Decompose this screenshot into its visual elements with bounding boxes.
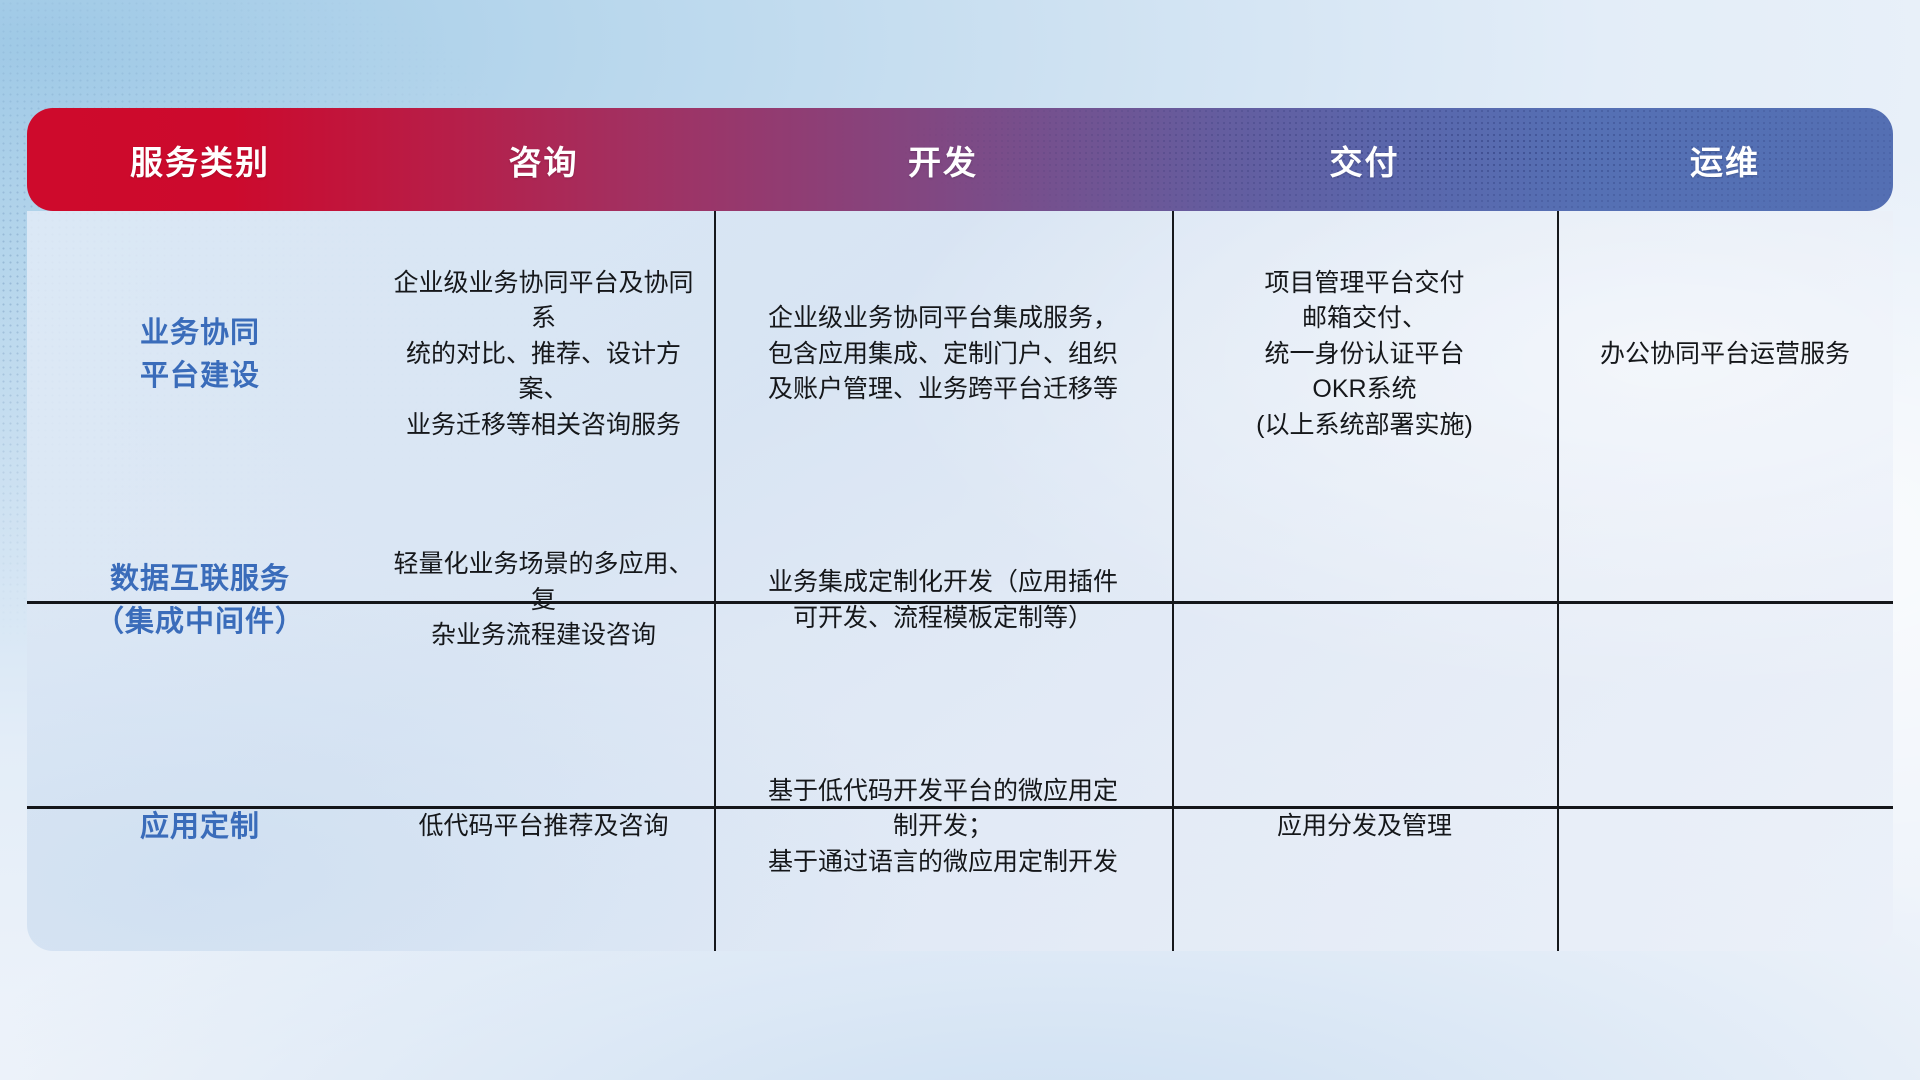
- cell-development: 企业级业务协同平台集成服务， 包含应用集成、定制门户、组织 及账户管理、业务跨平…: [714, 211, 1172, 498]
- table-row: 业务协同 平台建设 企业级业务协同平台及协同系 统的对比、推荐、设计方案、 业务…: [27, 211, 1893, 498]
- cell-operations: [1557, 703, 1893, 951]
- cell-development: 基于低代码开发平台的微应用定 制开发； 基于通过语言的微应用定制开发: [714, 703, 1172, 951]
- column-divider: [714, 211, 716, 951]
- column-header-development: 开发: [714, 108, 1172, 211]
- table-header-row: 服务类别 咨询 开发 交付 运维: [27, 108, 1893, 211]
- cell-consulting: 低代码平台推荐及咨询: [373, 703, 714, 951]
- service-matrix-table: 服务类别 咨询 开发 交付 运维 业务协同 平台建设 企业级业务协同平台及协同系…: [27, 108, 1893, 951]
- column-header-consulting: 咨询: [373, 108, 714, 211]
- table-body: 业务协同 平台建设 企业级业务协同平台及协同系 统的对比、推荐、设计方案、 业务…: [27, 211, 1893, 951]
- column-divider: [1557, 211, 1559, 951]
- column-header-category: 服务类别: [27, 108, 373, 211]
- row-category-cell: 业务协同 平台建设: [27, 211, 373, 498]
- category-label: 应用定制: [140, 806, 260, 848]
- table-row: 应用定制 低代码平台推荐及咨询 基于低代码开发平台的微应用定 制开发； 基于通过…: [27, 703, 1893, 951]
- cell-delivery: 项目管理平台交付 邮箱交付、 统一身份认证平台 OKR系统 (以上系统部署实施): [1172, 211, 1557, 498]
- column-header-delivery: 交付: [1172, 108, 1557, 211]
- row-category-cell: 应用定制: [27, 703, 373, 951]
- column-header-operations: 运维: [1557, 108, 1893, 211]
- row-divider: [27, 601, 1893, 604]
- cell-consulting: 企业级业务协同平台及协同系 统的对比、推荐、设计方案、 业务迁移等相关咨询服务: [373, 211, 714, 498]
- column-divider: [1172, 211, 1174, 951]
- cell-delivery: 应用分发及管理: [1172, 703, 1557, 951]
- row-divider: [27, 806, 1893, 809]
- cell-operations: 办公协同平台运营服务: [1557, 211, 1893, 498]
- category-label: 业务协同 平台建设: [140, 312, 260, 396]
